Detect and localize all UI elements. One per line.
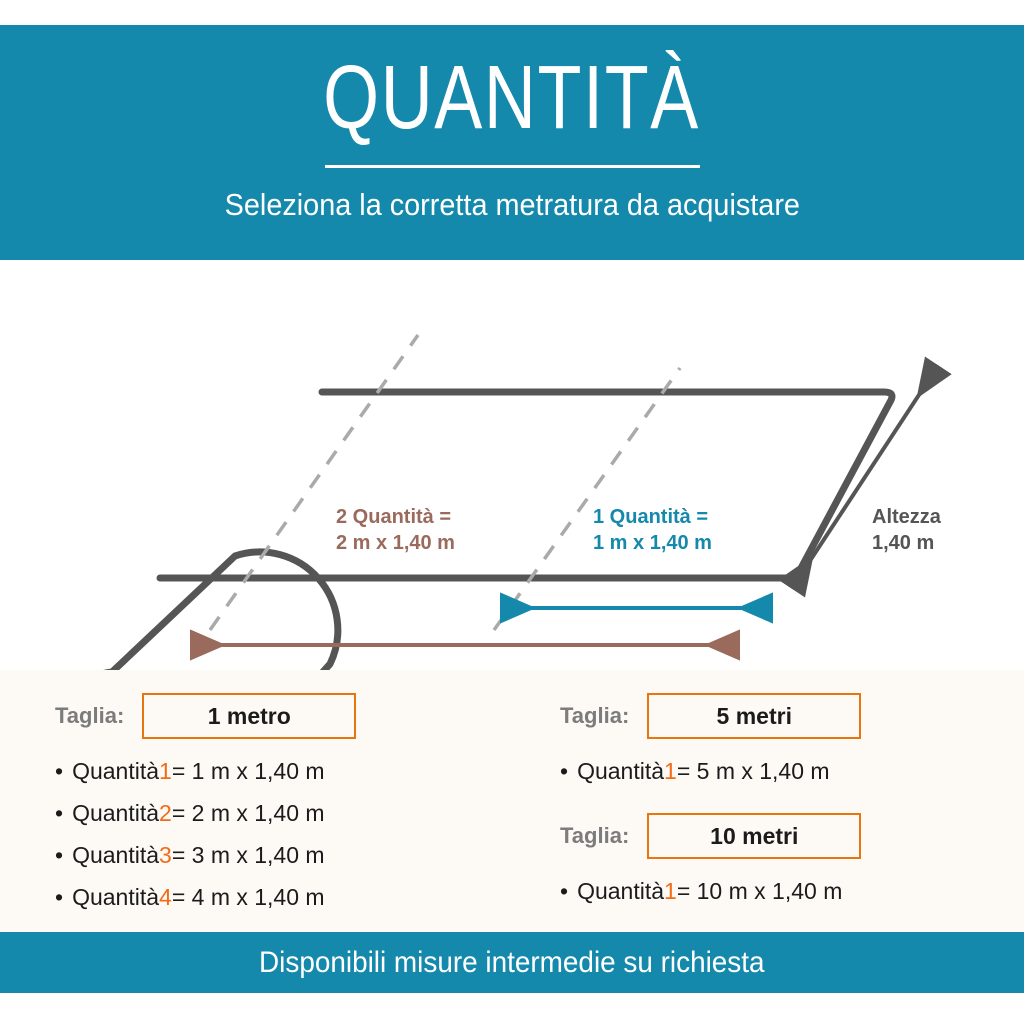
size-option-value: 5 metri (717, 703, 792, 730)
bullet-icon: • (560, 760, 568, 783)
taglia-label: Taglia: (560, 703, 629, 729)
bullet-icon: • (55, 802, 63, 825)
roll-illustration-svg (0, 260, 1024, 670)
quantity-prefix: Quantità (577, 758, 664, 785)
list-item: • Quantità 1 = 10 m x 1,40 m (560, 878, 842, 905)
taglia-label: Taglia: (560, 823, 629, 849)
sizes-column-left: Taglia: 1 metro • Quantità 1 = 1 m x 1,4… (0, 670, 512, 932)
quantity-list-10-metri: • Quantità 1 = 10 m x 1,40 m (560, 878, 842, 905)
header-subtitle: Seleziona la corretta metratura da acqui… (224, 187, 799, 223)
footer-banner: Disponibili misure intermedie su richies… (0, 932, 1024, 993)
quantity-number: 1 (159, 758, 172, 785)
footer-text: Disponibili misure intermedie su richies… (259, 946, 764, 980)
quantity-rest: = 1 m x 1,40 m (172, 758, 325, 785)
size-option-10-metri[interactable]: 10 metri (647, 813, 861, 859)
quantity-prefix: Quantità (577, 878, 664, 905)
taglia-row-10-metri: Taglia: 10 metri (560, 813, 861, 859)
label-two-quantity: 2 Quantità = 2 m x 1,40 m (336, 505, 455, 556)
label-height: Altezza 1,40 m (872, 505, 941, 556)
quantity-rest: = 5 m x 1,40 m (677, 758, 830, 785)
label-one-quantity: 1 Quantità = 1 m x 1,40 m (593, 505, 712, 556)
quantity-number: 4 (159, 884, 172, 911)
page-title: QUANTITÀ (324, 53, 701, 143)
label-one-quantity-line1: 1 Quantità = (593, 505, 712, 531)
list-item: • Quantità 4 = 4 m x 1,40 m (55, 884, 325, 911)
dashed-cut-lines (210, 335, 680, 630)
label-height-line2: 1,40 m (872, 531, 941, 557)
list-item: • Quantità 2 = 2 m x 1,40 m (55, 800, 325, 827)
infographic-page: QUANTITÀ Seleziona la corretta metratura… (0, 0, 1024, 1024)
sizes-panel: Taglia: 1 metro • Quantità 1 = 1 m x 1,4… (0, 670, 1024, 932)
quantity-number: 2 (159, 800, 172, 827)
quantity-rest: = 2 m x 1,40 m (172, 800, 325, 827)
bullet-icon: • (55, 760, 63, 783)
quantity-rest: = 4 m x 1,40 m (172, 884, 325, 911)
taglia-label: Taglia: (55, 703, 124, 729)
bullet-icon: • (55, 844, 63, 867)
list-item: • Quantità 1 = 1 m x 1,40 m (55, 758, 325, 785)
label-height-line1: Altezza (872, 505, 941, 531)
fabric-roll-body (44, 552, 338, 670)
taglia-row-5-metri: Taglia: 5 metri (560, 693, 861, 739)
size-option-value: 1 metro (208, 703, 291, 730)
sizes-column-right: Taglia: 5 metri • Quantità 1 = 5 m x 1,4… (512, 670, 1024, 932)
quantity-list-5-metri: • Quantità 1 = 5 m x 1,40 m (560, 758, 830, 785)
label-one-quantity-line2: 1 m x 1,40 m (593, 531, 712, 557)
size-option-1-metro[interactable]: 1 metro (142, 693, 356, 739)
title-divider (325, 165, 700, 168)
quantity-list-1-metro: • Quantità 1 = 1 m x 1,40 m • Quantità 2… (55, 758, 325, 926)
quantity-number: 1 (664, 878, 677, 905)
quantity-rest: = 3 m x 1,40 m (172, 842, 325, 869)
size-option-5-metri[interactable]: 5 metri (647, 693, 861, 739)
taglia-row-1-metro: Taglia: 1 metro (55, 693, 356, 739)
label-two-quantity-line1: 2 Quantità = (336, 505, 455, 531)
fabric-roll-diagram: 2 Quantità = 2 m x 1,40 m 1 Quantità = 1… (0, 260, 1024, 670)
quantity-prefix: Quantità (72, 800, 159, 827)
list-item: • Quantità 1 = 5 m x 1,40 m (560, 758, 830, 785)
quantity-prefix: Quantità (72, 884, 159, 911)
quantity-number: 1 (664, 758, 677, 785)
quantity-number: 3 (159, 842, 172, 869)
quantity-rest: = 10 m x 1,40 m (677, 878, 843, 905)
size-option-value: 10 metri (710, 823, 798, 850)
label-two-quantity-line2: 2 m x 1,40 m (336, 531, 455, 557)
quantity-prefix: Quantità (72, 842, 159, 869)
bullet-icon: • (55, 886, 63, 909)
header-banner: QUANTITÀ Seleziona la corretta metratura… (0, 25, 1024, 260)
bullet-icon: • (560, 880, 568, 903)
list-item: • Quantità 3 = 3 m x 1,40 m (55, 842, 325, 869)
quantity-prefix: Quantità (72, 758, 159, 785)
